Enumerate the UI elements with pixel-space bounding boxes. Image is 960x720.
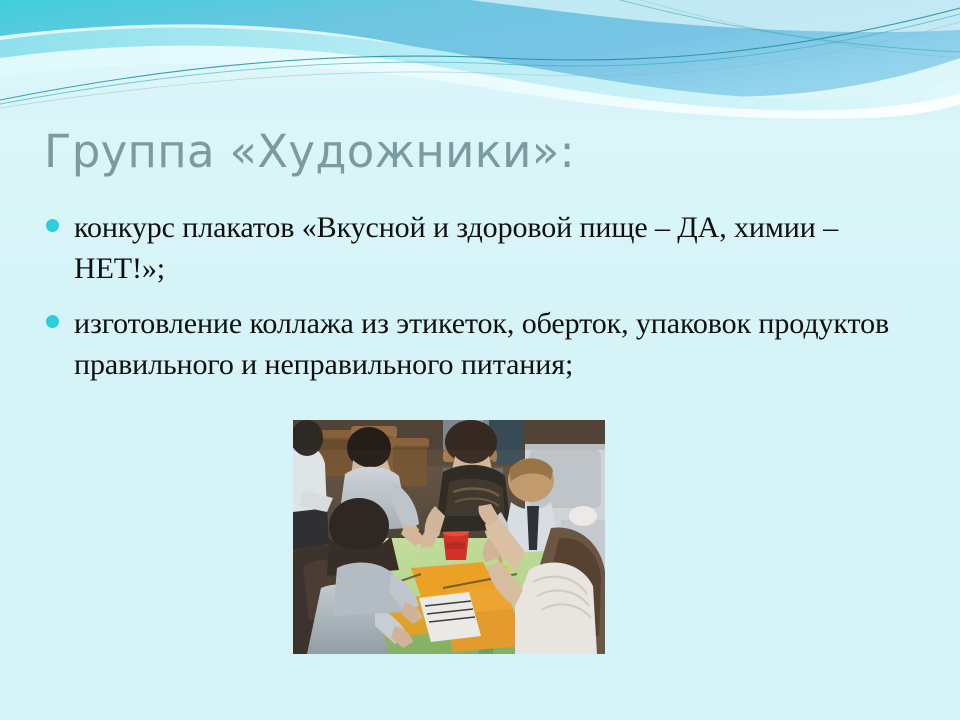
bullet-dot-icon — [46, 315, 59, 328]
wave-header-graphic — [0, 0, 960, 120]
slide-title: Группа «Художники»: — [44, 124, 904, 180]
classroom-collage-photo — [293, 420, 605, 654]
list-item-text: изготовление коллажа из этикеток, оберто… — [74, 303, 926, 385]
wave-header-band — [0, 0, 960, 120]
list-item: конкурс плакатов «Вкусной и здоровой пищ… — [46, 207, 926, 289]
bullet-list: конкурс плакатов «Вкусной и здоровой пищ… — [46, 207, 926, 399]
presentation-slide: Группа «Художники»: конкурс плакатов «Вк… — [0, 0, 960, 720]
list-item-text: конкурс плакатов «Вкусной и здоровой пищ… — [74, 207, 926, 289]
list-item: изготовление коллажа из этикеток, оберто… — [46, 303, 926, 385]
classroom-collage-photo-graphic — [293, 420, 605, 654]
bullet-dot-icon — [46, 219, 59, 232]
